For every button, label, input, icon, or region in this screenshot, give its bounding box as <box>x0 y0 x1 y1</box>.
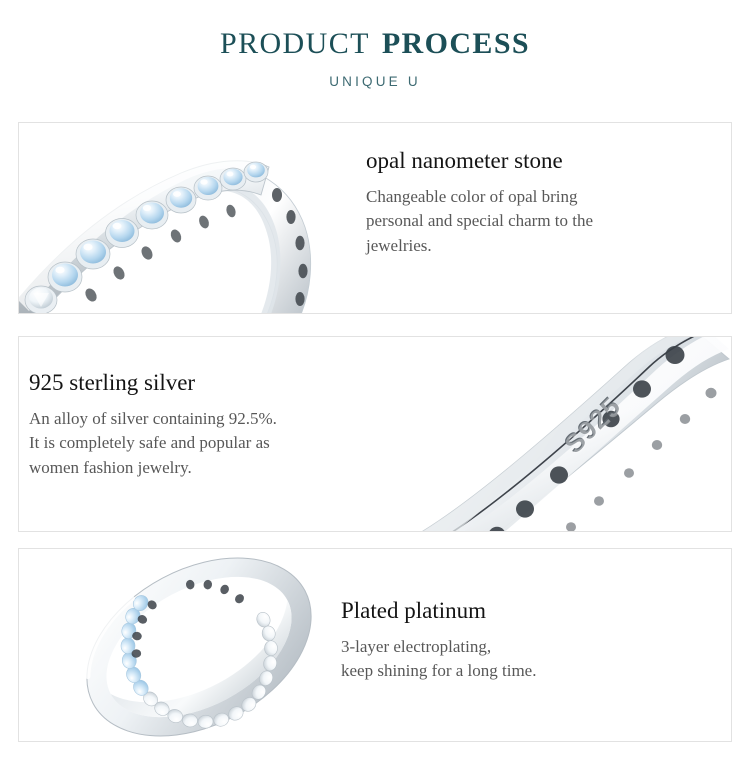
ring-band-s925-stamp-image: S925 S925 <box>399 337 732 531</box>
page-header: PRODUCTPROCESS UNIQUE U <box>0 0 750 89</box>
page-title: PRODUCTPROCESS <box>0 28 750 60</box>
feature-card-925-sterling-silver[interactable]: 925 sterling silver An alloy of silver c… <box>18 336 732 532</box>
feature-card-opal-nanometer-stone[interactable]: opal nanometer stone Changeable color of… <box>18 122 732 314</box>
feature-body: An alloy of silver containing 92.5%. It … <box>29 407 277 481</box>
feature-body-line: women fashion jewelry. <box>29 456 277 481</box>
feature-body-line: 3-layer electroplating, <box>341 635 536 660</box>
ring-full-view-eternity-band-image <box>49 551 349 741</box>
feature-body-line: keep shining for a long time. <box>341 659 536 684</box>
page-subtitle: UNIQUE U <box>0 74 750 89</box>
feature-card-list: opal nanometer stone Changeable color of… <box>0 0 750 758</box>
feature-card-plated-platinum[interactable]: Plated platinum 3-layer electroplating, … <box>18 548 732 742</box>
page-title-word-product: PRODUCT <box>220 27 370 60</box>
feature-body-line: It is completely safe and popular as <box>29 431 277 456</box>
feature-title: 925 sterling silver <box>29 369 277 398</box>
page-title-word-process: PROCESS <box>382 27 530 60</box>
feature-body-line: Changeable color of opal bring <box>366 185 593 210</box>
feature-body: Changeable color of opal bring personal … <box>366 185 593 259</box>
feature-text-block: opal nanometer stone Changeable color of… <box>366 147 593 259</box>
feature-title: opal nanometer stone <box>366 147 593 176</box>
feature-text-block: Plated platinum 3-layer electroplating, … <box>341 597 536 684</box>
feature-title: Plated platinum <box>341 597 536 626</box>
ring-closeup-opal-stones-image <box>19 123 365 313</box>
feature-text-block: 925 sterling silver An alloy of silver c… <box>29 369 277 481</box>
feature-body-line: personal and special charm to the <box>366 209 593 234</box>
feature-body: 3-layer electroplating, keep shining for… <box>341 635 536 684</box>
feature-body-line: jewelries. <box>366 234 593 259</box>
feature-body-line: An alloy of silver containing 92.5%. <box>29 407 277 432</box>
